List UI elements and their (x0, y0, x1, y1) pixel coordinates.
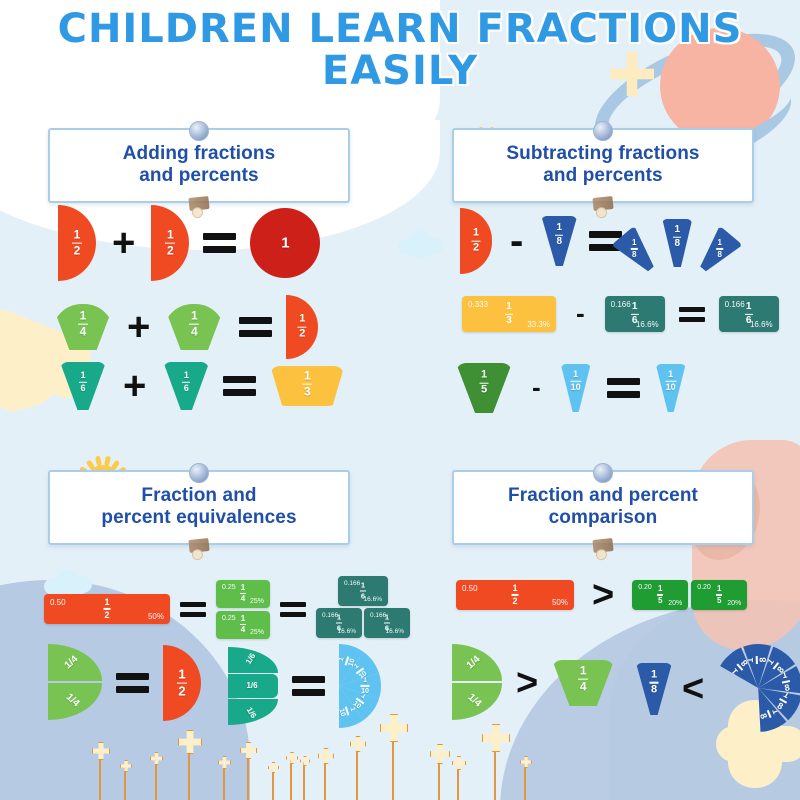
percent-bar-sixth: 0.166 16 16.6% (316, 608, 362, 638)
flower-stem (356, 746, 358, 800)
flower-decoration (430, 744, 448, 800)
fraction-label: 12 (472, 228, 481, 255)
decimal-value: 0.50 (50, 598, 66, 607)
flower-decoration (300, 756, 308, 800)
fraction-label: 1/4 (63, 692, 80, 709)
decimal-value: 0.20 (638, 584, 652, 591)
percent-bar-group-fifths[interactable]: 0.20 15 20% 0.20 15 20% (632, 580, 747, 610)
percent-bar-sixth: 0.166 16 16.6% (338, 576, 388, 606)
flower-decoration (350, 736, 364, 800)
flower-stem (324, 758, 326, 800)
operator-plus: + (127, 307, 150, 347)
fraction-label: 18 (650, 669, 659, 696)
fraction-label: 14 (240, 583, 246, 603)
fraction-piece-sixth[interactable]: 16 (163, 362, 209, 410)
decimal-value: 0.333 (468, 300, 488, 309)
operator-equals (679, 307, 705, 322)
panel-subtracting: Subtracting fractions and percents (452, 128, 754, 203)
percent-bar-sixth[interactable]: 0.166 16 16.6% (605, 296, 665, 332)
fraction-piece-half[interactable]: 12 (151, 205, 189, 281)
equation-add-row-2: 14 + 14 12 (52, 295, 318, 359)
equation-sub-row-3: 15 - 110 110 (456, 363, 686, 413)
flower-stem (155, 760, 157, 800)
fraction-group-sixths[interactable]: 1/6 1/6 1/6 (228, 647, 278, 725)
panel-adding-header-line2: and percents (58, 165, 340, 187)
percent-bar-sixth-result[interactable]: 0.166 16 16.6% (719, 296, 779, 332)
fraction-label: 18 (673, 225, 681, 250)
fraction-label: 12 (104, 598, 111, 620)
percent-bar-fifth: 0.20 15 20% (691, 580, 747, 610)
operator-minus: - (510, 233, 523, 249)
flower-decoration (520, 756, 530, 800)
fraction-piece-quarter: 1/4 (452, 683, 502, 720)
fraction-label: 110 (570, 370, 581, 392)
percent-bar-fifth: 0.20 15 20% (632, 580, 688, 610)
fraction-piece-quarter: 1/4 (452, 644, 502, 681)
percent-bar-half[interactable]: 0.50 12 50% (456, 580, 574, 610)
tape-icon (188, 538, 209, 553)
sun-ray (95, 456, 101, 466)
flower-stem (223, 764, 225, 800)
fraction-fan-eighths[interactable]: 18 18 18 (634, 213, 720, 269)
panel-comparison-header: Fraction and percent comparison (452, 470, 754, 545)
pin-icon (189, 463, 209, 483)
panel-comparison-header-line1: Fraction and percent (462, 485, 744, 507)
fraction-piece-half[interactable]: 12 (286, 295, 318, 359)
fraction-label: 13 (302, 370, 312, 399)
percent-bar-quarter: 0.25 14 25% (216, 580, 270, 608)
panel-comparison-header-line2: comparison (462, 507, 744, 529)
panel-adding-header-line1: Adding fractions (58, 143, 340, 165)
fraction-piece-whole[interactable]: 1 (250, 208, 320, 278)
flower-stem (272, 768, 274, 800)
fraction-label: 18 (780, 671, 792, 695)
operator-greater-than: > (592, 576, 614, 614)
fraction-label: 18 (746, 656, 769, 665)
percent-bar-quarter: 0.25 14 25% (216, 611, 270, 639)
fraction-piece-sixth: 1/6 (228, 674, 278, 698)
flower-decoration (452, 756, 464, 800)
page-title: CHILDREN LEARN FRACTIONS EASILY (0, 8, 800, 92)
percent-value: 25% (250, 629, 264, 636)
panel-equivalences-header-line1: Fraction and (58, 485, 340, 507)
flower-petal (240, 742, 257, 759)
flower-decoration (150, 752, 161, 800)
fraction-label: 15 (480, 370, 489, 397)
fraction-label: 1/6 (246, 682, 257, 690)
fraction-label: 110 (361, 677, 370, 695)
panel-equivalences: Fraction and percent equivalences (48, 470, 350, 545)
flower-stem (524, 763, 526, 800)
flower-petal (350, 736, 366, 752)
percent-value: 16.6% (636, 320, 659, 329)
fraction-label: 1/6 (245, 653, 258, 667)
operator-less-than: < (682, 670, 704, 708)
fraction-label: 12 (177, 668, 187, 699)
percent-bar-third[interactable]: 0.333 13 33.3% (462, 296, 556, 332)
equation-cmp-row-1: 0.50 12 50% > 0.20 15 20% 0.20 15 20% (456, 576, 747, 614)
flower-decoration (240, 742, 255, 800)
percent-value: 50% (552, 598, 568, 607)
operator-equals (280, 602, 306, 617)
operator-equals (116, 673, 149, 693)
page-title-line2: EASILY (0, 50, 800, 92)
sun-ray (86, 459, 95, 470)
fraction-piece-tenth[interactable]: 110 (561, 364, 591, 412)
operator-equals (203, 233, 236, 253)
fraction-label: 12 (72, 229, 82, 258)
flower-stem (303, 762, 305, 800)
percent-value: 16.6% (750, 320, 773, 329)
fraction-label: 14 (578, 665, 588, 694)
decimal-value: 0.25 (222, 584, 236, 591)
fraction-piece-quarter[interactable]: 14 (52, 304, 114, 350)
percent-value: 20% (668, 600, 682, 607)
flower-stem (392, 732, 394, 800)
fraction-label: 16 (79, 371, 87, 393)
fraction-label: 14 (189, 310, 199, 339)
fraction-label: 18 (729, 656, 751, 677)
flower-petal (268, 762, 279, 773)
fraction-piece-quarter: 1/4 (48, 644, 102, 681)
flower-petal (286, 752, 298, 764)
decimal-value: 0.50 (462, 584, 478, 593)
equation-sub-row-2: 0.333 13 33.3% - 0.166 16 16.6% 0.166 16… (462, 296, 779, 332)
operator-plus: + (112, 223, 135, 263)
percent-value: 16.6% (364, 596, 382, 603)
fraction-piece-half[interactable]: 12 (163, 645, 201, 721)
fraction-label: 1/6 (245, 706, 258, 720)
operator-equals (607, 378, 640, 398)
pin-icon (189, 121, 209, 141)
flower-petal (92, 742, 110, 760)
fraction-label: 18 (631, 239, 638, 259)
equation-add-row-1: 12 + 12 1 (58, 205, 320, 281)
percent-value: 16.6% (338, 628, 356, 635)
equation-cmp-row-2: 1/4 1/4 > 14 (452, 644, 614, 722)
equation-cmp-row-3: 18 < 181818181818 (636, 644, 800, 734)
flower-decoration (286, 752, 296, 800)
operator-minus: - (576, 310, 585, 318)
percent-value: 33.3% (527, 320, 550, 329)
page-title-line1: CHILDREN LEARN FRACTIONS (0, 8, 800, 50)
operator-equals (292, 676, 325, 696)
percent-bar-group-sixths[interactable]: 0.166 16 16.6% 0.166 16 16.6% 0.166 16 1… (316, 576, 412, 642)
fraction-label: 1/4 (63, 655, 80, 672)
fraction-piece-quarter[interactable]: 14 (552, 660, 614, 706)
percent-value: 20% (727, 600, 741, 607)
fraction-piece-sixth: 1/6 (228, 699, 278, 725)
fraction-label: 1 (281, 236, 289, 251)
fraction-label: 18 (757, 706, 781, 722)
operator-minus: - (532, 384, 541, 392)
fraction-label: 110 (665, 370, 676, 392)
operator-equals (180, 602, 206, 617)
fraction-piece-sixth[interactable]: 16 (60, 362, 106, 410)
decimal-value: 0.166 (725, 300, 745, 309)
decimal-value: 0.166 (344, 580, 360, 587)
fraction-label: 15 (657, 585, 663, 605)
decimal-value: 0.20 (697, 584, 711, 591)
flower-stem (290, 759, 292, 800)
fraction-piece-eighth: 18 (692, 226, 743, 279)
fraction-label: 18 (764, 656, 786, 676)
equation-equiv-row-2: 1/4 1/4 12 (48, 644, 201, 722)
flower-decoration (482, 724, 508, 800)
fraction-label: 13 (505, 302, 513, 326)
operator-equals (223, 376, 256, 396)
flower-decoration (178, 730, 200, 800)
flower-decoration (218, 756, 229, 800)
operator-plus: + (123, 366, 146, 406)
tape-icon (592, 538, 613, 553)
fraction-label: 18 (555, 223, 563, 248)
pin-icon (593, 121, 613, 141)
fraction-piece-half[interactable]: 12 (460, 208, 492, 274)
flower-decoration (268, 762, 277, 800)
fraction-label: 18 (774, 690, 792, 713)
panel-subtracting-header: Subtracting fractions and percents (452, 128, 754, 203)
fraction-group-quarters[interactable]: 1/4 1/4 (48, 644, 102, 722)
fraction-piece-fifth[interactable]: 15 (456, 363, 512, 413)
fraction-piece-tenth-result[interactable]: 110 (656, 364, 686, 412)
fraction-group-quarters[interactable]: 1/4 1/4 (452, 644, 502, 722)
sun-ray (104, 456, 110, 466)
percent-bar-half[interactable]: 0.50 12 50% (44, 594, 170, 624)
panel-equivalences-header-line2: percent equivalences (58, 507, 340, 529)
percent-value: 16.6% (386, 628, 404, 635)
fraction-label: 18 (717, 239, 724, 259)
fraction-label: 14 (240, 614, 246, 634)
flower-petal (452, 756, 466, 770)
fraction-group-eighths[interactable]: 181818181818 (714, 644, 800, 734)
fraction-piece-half[interactable]: 12 (58, 205, 96, 281)
flower-stem (99, 753, 101, 800)
fraction-piece-quarter[interactable]: 14 (163, 304, 225, 350)
fraction-label: 1/4 (465, 655, 482, 672)
percent-bar-group-quarters[interactable]: 0.25 14 25% 0.25 14 25% (216, 580, 270, 639)
cloud-puff (404, 244, 438, 257)
panel-comparison: Fraction and percent comparison (452, 470, 754, 545)
flower-stem (247, 753, 249, 800)
flower-petal (430, 744, 450, 764)
fraction-piece-third[interactable]: 13 (270, 366, 344, 406)
poster-root: CHILDREN LEARN FRACTIONS EASILY Adding f… (0, 0, 800, 800)
panel-equivalences-header: Fraction and percent equivalences (48, 470, 350, 545)
percent-value: 25% (250, 598, 264, 605)
flower-decoration (120, 760, 130, 800)
fraction-label: 16 (182, 371, 190, 393)
fraction-label: 1/4 (465, 692, 482, 709)
fraction-label: 12 (165, 229, 175, 258)
flower-decoration (92, 742, 108, 800)
fraction-label: 12 (512, 584, 519, 606)
panel-adding-header: Adding fractions and percents (48, 128, 350, 203)
pin-icon (593, 463, 613, 483)
fraction-piece-quarter: 1/4 (48, 683, 102, 720)
fraction-group-tenths[interactable]: 110110110110110 (339, 644, 387, 728)
panel-subtracting-header-line1: Subtracting fractions (462, 143, 744, 165)
equation-add-row-3: 16 + 16 13 (60, 362, 344, 410)
equation-sub-row-1: 12 - 18 18 18 18 (460, 208, 720, 274)
fraction-label: 12 (298, 314, 307, 341)
panel-subtracting-header-line2: and percents (462, 165, 744, 187)
fraction-piece-eighth: 18 (662, 219, 692, 267)
flower-decoration (318, 748, 332, 800)
operator-equals (239, 317, 272, 337)
decimal-value: 0.166 (611, 300, 631, 309)
flower-petal (318, 748, 334, 764)
decimal-value: 0.25 (222, 615, 236, 622)
fraction-label: 14 (78, 310, 88, 339)
percent-bar-sixth: 0.166 16 16.6% (364, 608, 410, 638)
operator-greater-than: > (516, 664, 538, 702)
fraction-piece-eighth[interactable]: 18 (541, 216, 577, 266)
flower-petal (482, 724, 510, 752)
equation-equiv-row-1: 0.50 12 50% 0.25 14 25% 0.25 14 25% (44, 576, 412, 642)
flower-petal (178, 730, 202, 754)
equation-equiv-row-3: 1/6 1/6 1/6 110110110110110 (228, 644, 387, 728)
percent-value: 50% (148, 612, 164, 621)
fraction-label: 15 (716, 585, 722, 605)
fraction-piece-sixth: 1/6 (228, 647, 278, 673)
flower-petal (300, 756, 310, 766)
panel-adding: Adding fractions and percents (48, 128, 350, 203)
fraction-piece-eighth[interactable]: 18 (636, 663, 672, 715)
